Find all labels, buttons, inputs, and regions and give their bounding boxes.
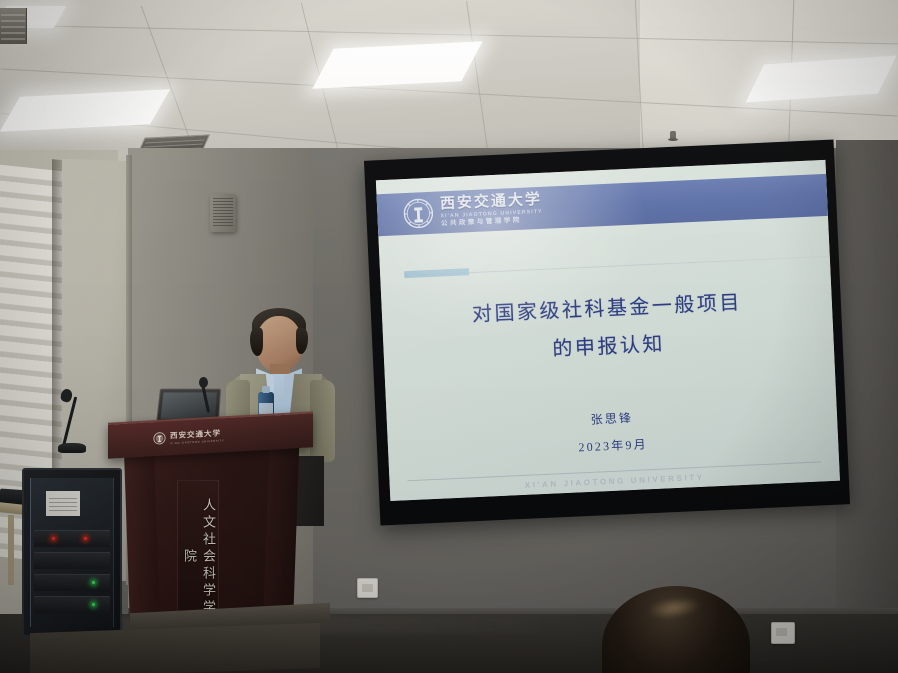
projection-screen: 西安交通大学 XI'AN JIAOTONG UNIVERSITY 公共政策与管理… xyxy=(364,140,850,526)
side-table-leg xyxy=(8,515,14,585)
xjtu-seal-icon xyxy=(403,198,434,229)
ceiling-panel-light xyxy=(312,41,482,89)
microphone-head-icon xyxy=(199,377,208,388)
xjtu-seal-icon xyxy=(153,431,166,445)
led-green-2 xyxy=(92,603,95,606)
rack-paper-label xyxy=(46,491,80,516)
podium-front-panel-text: 人文社会科学学院 xyxy=(178,492,218,622)
equipment-rack xyxy=(22,468,122,637)
bottle-label xyxy=(259,403,273,414)
air-conditioner-vent-icon xyxy=(0,8,27,44)
slide-header-text: 西安交通大学 XI'AN JIAOTONG UNIVERSITY 公共政策与管理… xyxy=(440,192,543,227)
presenter-hair-side xyxy=(250,328,263,356)
microphone-base xyxy=(58,443,86,453)
screen-surface: 西安交通大学 XI'AN JIAOTONG UNIVERSITY 公共政策与管理… xyxy=(376,160,840,501)
slide-author-block: 张思锋 2023年9月 xyxy=(387,396,839,470)
lecture-hall-photo: 西安交通大学 XI'AN JIAOTONG UNIVERSITY 公共政策与管理… xyxy=(0,0,898,673)
wall-outlet-1 xyxy=(357,578,378,598)
rack-unit xyxy=(34,596,110,613)
presenter-hair-side xyxy=(296,328,308,354)
wall-speaker-icon xyxy=(210,194,236,232)
led-red-1 xyxy=(52,537,55,540)
podium-brand-text: 西安交通大学 XI'AN JIAOTONG UNIVERSITY xyxy=(170,427,224,445)
sprinkler-head-icon xyxy=(670,131,676,141)
led-green-1 xyxy=(92,581,95,584)
rack-unit xyxy=(34,530,110,547)
presentation-slide: 西安交通大学 XI'AN JIAOTONG UNIVERSITY 公共政策与管理… xyxy=(376,160,840,501)
podium-brand: 西安交通大学 XI'AN JIAOTONG UNIVERSITY xyxy=(153,427,224,446)
led-red-2 xyxy=(84,537,87,540)
slide-accent-bar xyxy=(404,268,469,278)
wall-outlet-2 xyxy=(771,622,795,644)
slide-header-band: 西安交通大学 XI'AN JIAOTONG UNIVERSITY 公共政策与管理… xyxy=(376,174,827,236)
slide-title: 对国家级社科基金一般项目 的申报认知 xyxy=(381,280,834,376)
rack-unit xyxy=(34,552,110,569)
rack-unit xyxy=(34,574,110,591)
presenter-arm-right xyxy=(310,380,335,462)
podium-left-side xyxy=(124,446,160,631)
